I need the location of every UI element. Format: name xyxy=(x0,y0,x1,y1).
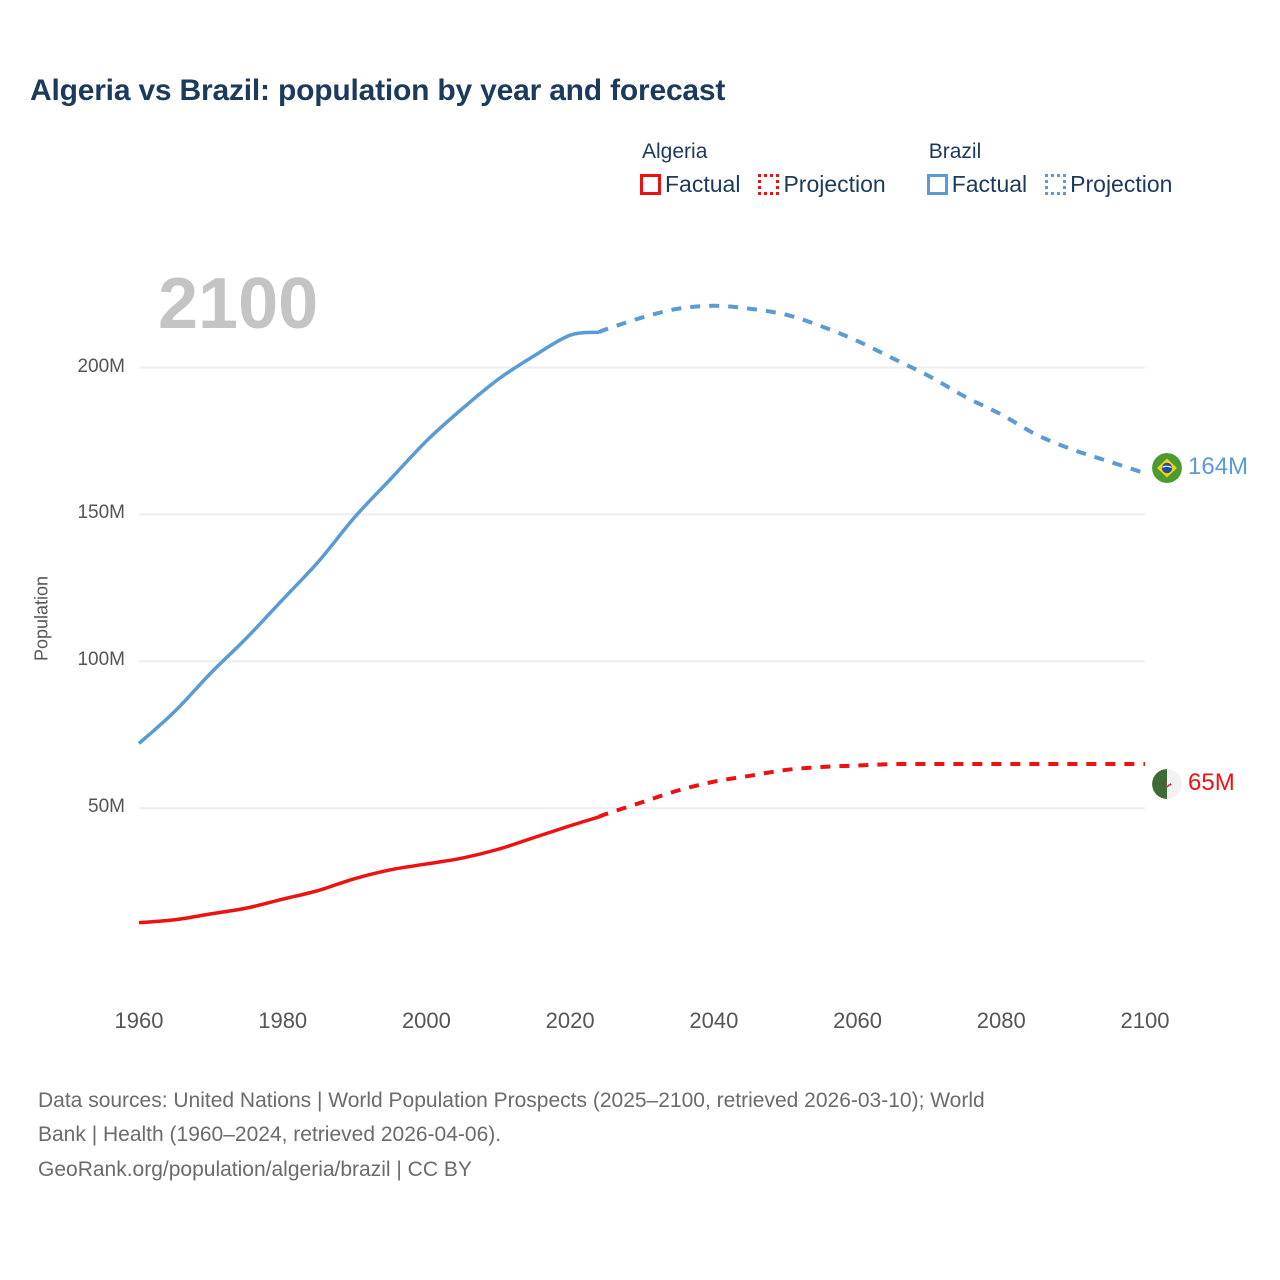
x-tick-label: 2020 xyxy=(520,1008,620,1034)
x-tick-label: 2040 xyxy=(664,1008,764,1034)
series-paths xyxy=(139,306,1145,923)
series-line-brazil-projection xyxy=(599,306,1145,473)
footer-line-2: Bank | Health (1960–2024, retrieved 2026… xyxy=(38,1120,1238,1150)
brazil-endpoint-value: 164M xyxy=(1188,453,1248,481)
algeria-flag-icon xyxy=(1152,769,1182,799)
algeria-endpoint-value: 65M xyxy=(1188,769,1235,797)
y-tick-label: 150M xyxy=(35,502,125,524)
y-axis-title: Population xyxy=(32,554,53,684)
y-tick-label: 50M xyxy=(35,796,125,818)
x-tick-label: 2060 xyxy=(808,1008,908,1034)
footer-line-1: Data sources: United Nations | World Pop… xyxy=(38,1086,1238,1116)
chart-container: Algeria vs Brazil: population by year an… xyxy=(0,0,1280,1280)
x-tick-label: 2100 xyxy=(1095,1008,1195,1034)
series-line-brazil-factual xyxy=(139,332,599,743)
footer-sources: Data sources: United Nations | World Pop… xyxy=(38,1086,1238,1185)
brazil-flag-icon xyxy=(1152,453,1182,483)
y-tick-label: 200M xyxy=(35,356,125,378)
x-tick-label: 2000 xyxy=(376,1008,476,1034)
x-tick-label: 1960 xyxy=(89,1008,189,1034)
footer-line-3: GeoRank.org/population/algeria/brazil | … xyxy=(38,1155,1238,1185)
gridlines xyxy=(139,368,1145,809)
x-tick-label: 2080 xyxy=(951,1008,1051,1034)
x-tick-label: 1980 xyxy=(233,1008,333,1034)
series-line-algeria-factual xyxy=(139,817,599,923)
